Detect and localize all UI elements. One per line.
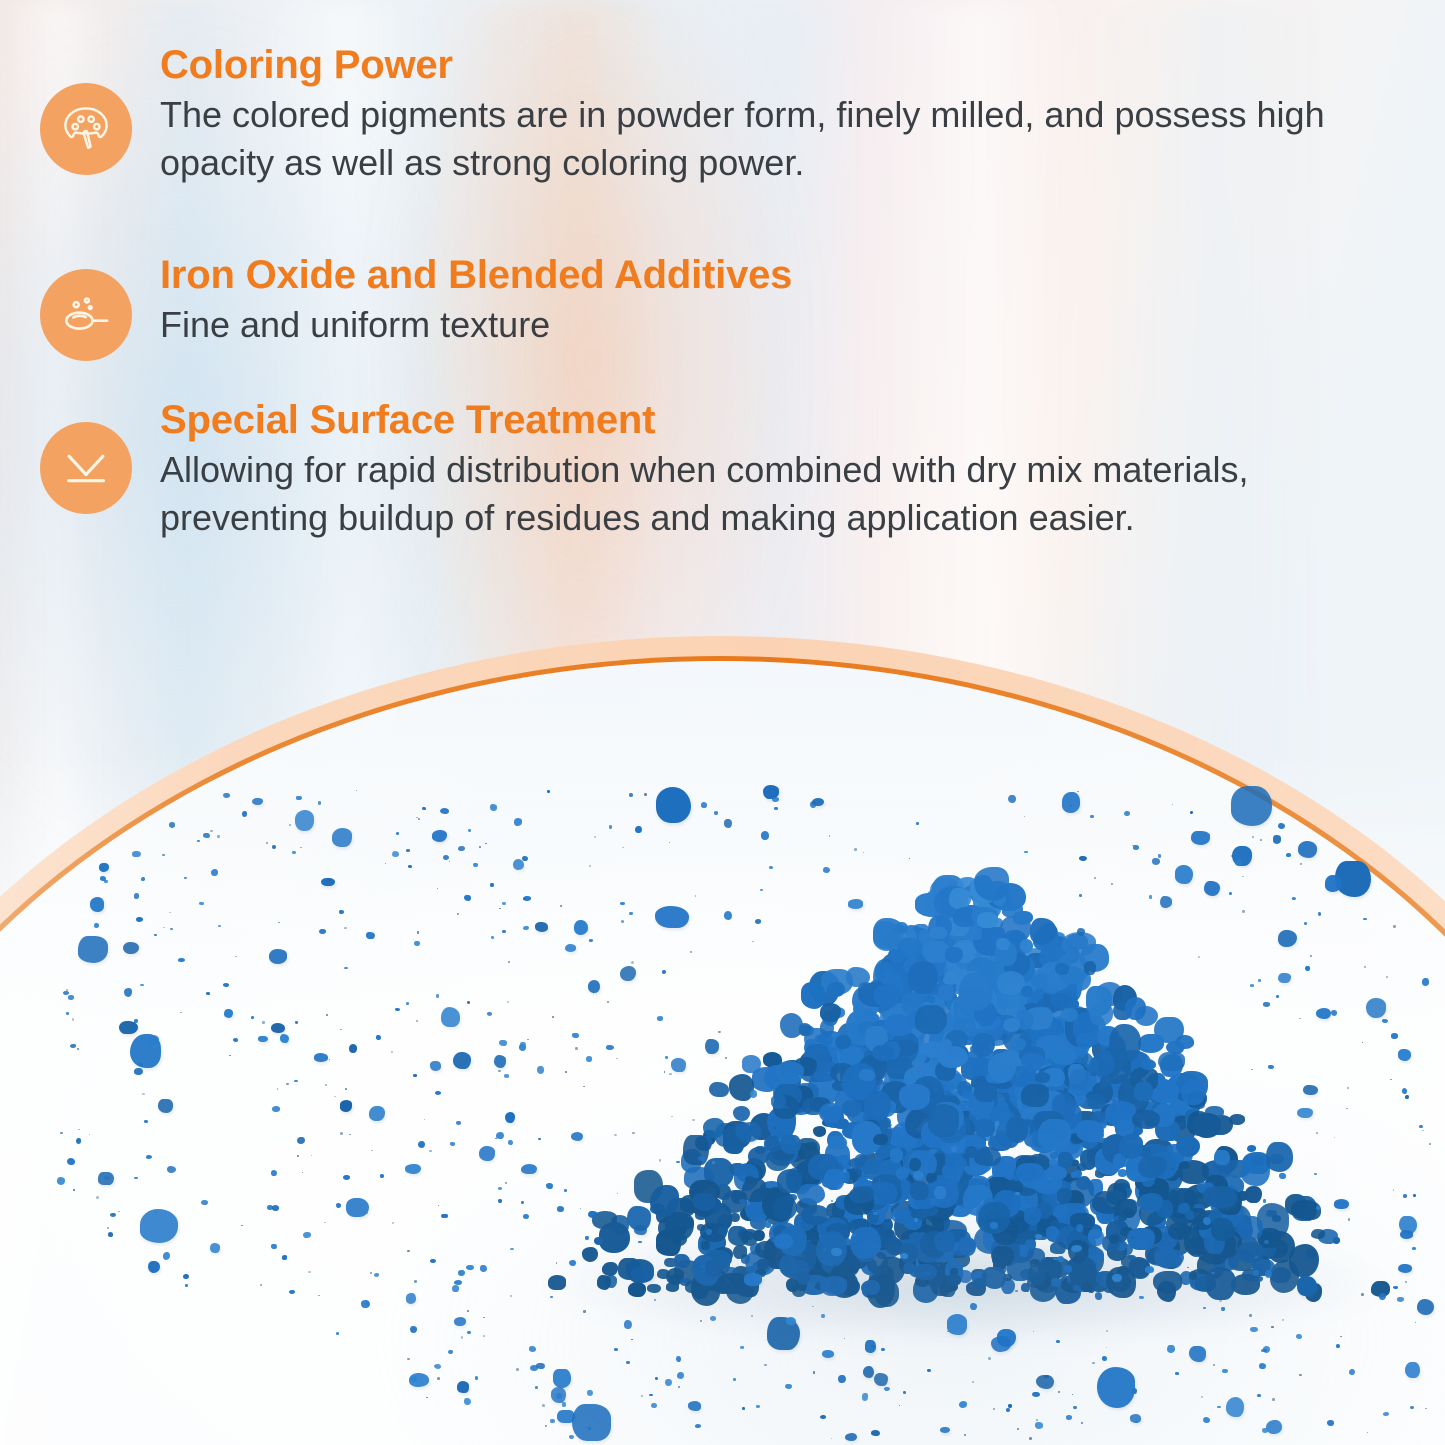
chevron-down-line-icon (40, 422, 132, 514)
feature-title: Special Surface Treatment (160, 400, 1400, 440)
product-photo-region (0, 560, 1445, 1445)
feature-body: The colored pigments are in powder form,… (160, 91, 1390, 186)
feature-item-special-surface-treatment: Special Surface Treatment Allowing for r… (40, 400, 1400, 541)
feature-item-iron-oxide-additives: Iron Oxide and Blended Additives Fine an… (40, 255, 792, 361)
feature-body: Allowing for rapid distribution when com… (160, 446, 1400, 541)
feature-text-block: Special Surface Treatment Allowing for r… (160, 400, 1400, 541)
infographic-canvas: Coloring Power The colored pigments are … (0, 0, 1445, 1445)
feature-title: Coloring Power (160, 45, 1390, 85)
palette-icon (40, 83, 132, 175)
powder-mound (505, 840, 1405, 1340)
feature-title: Iron Oxide and Blended Additives (160, 255, 792, 295)
feature-item-coloring-power: Coloring Power The colored pigments are … (40, 45, 1390, 186)
spoon-scoop-icon (40, 269, 132, 361)
feature-text-block: Coloring Power The colored pigments are … (160, 45, 1390, 186)
feature-body: Fine and uniform texture (160, 301, 792, 349)
feature-text-block: Iron Oxide and Blended Additives Fine an… (160, 255, 792, 349)
pigment-powder-photo (0, 560, 1445, 1445)
